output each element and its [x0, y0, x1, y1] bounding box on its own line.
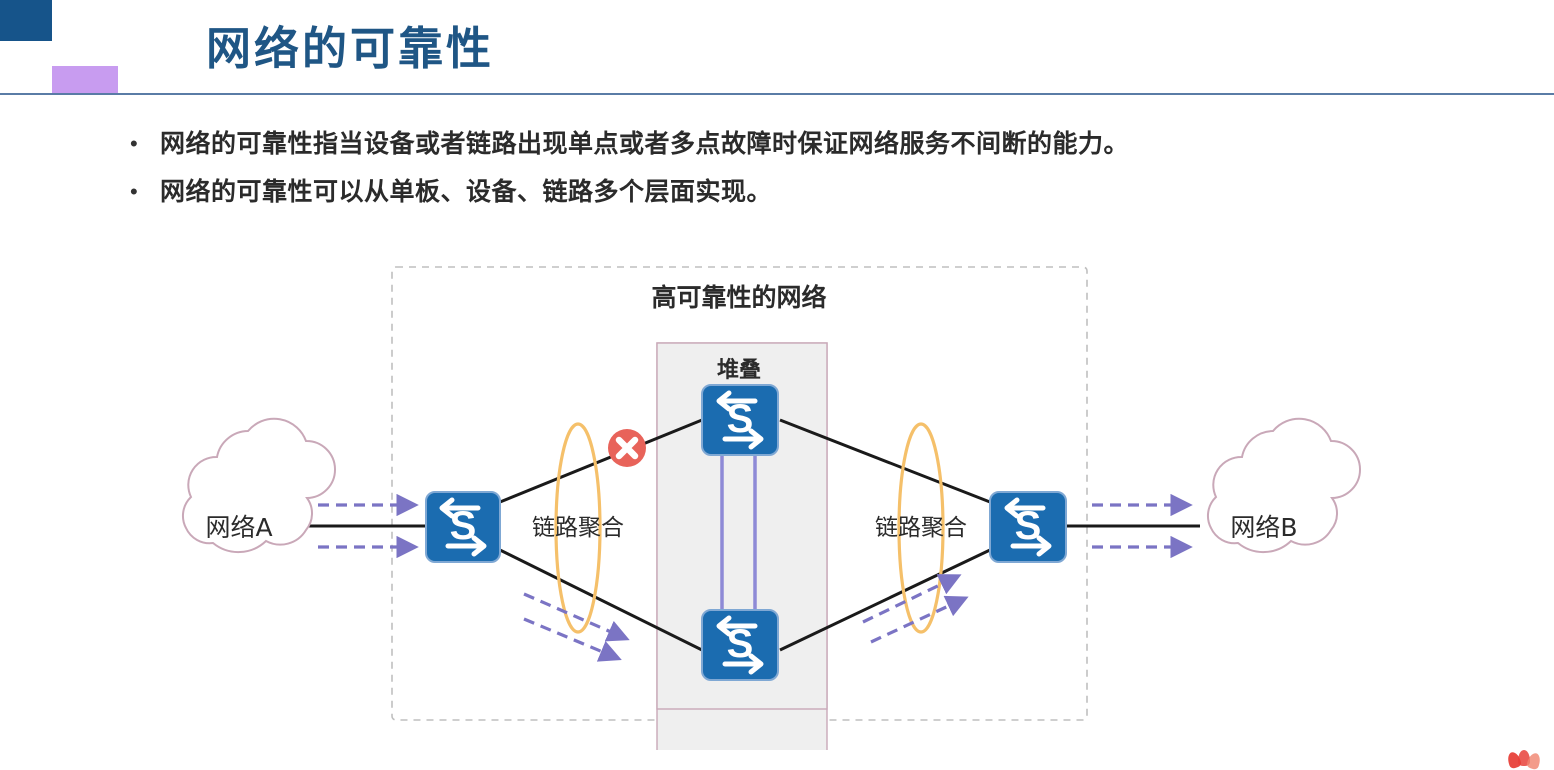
brand-logo-icon	[1508, 750, 1542, 766]
diagram-outer-label: 高可靠性的网络	[651, 283, 826, 312]
cloud-network-a: 网络A	[183, 419, 335, 552]
bullet-item-2: • 网络的可靠性可以从单板、设备、链路多个层面实现。	[130, 175, 1530, 209]
stack-label: 堆叠	[717, 358, 761, 383]
svg-text:S: S	[727, 622, 754, 666]
bullet-text-2: 网络的可靠性可以从单板、设备、链路多个层面实现。	[160, 175, 772, 209]
bullet-marker-icon: •	[130, 175, 160, 209]
header-purple-accent-block	[52, 66, 118, 94]
switch-left-edge[interactable]: S	[426, 492, 500, 562]
svg-text:S: S	[1015, 504, 1042, 548]
switch-stack-top[interactable]: S	[702, 385, 778, 455]
header-divider-rule	[0, 93, 1554, 95]
cloud-network-b-label: 网络B	[1230, 513, 1297, 542]
cloud-network-a-label: 网络A	[205, 513, 272, 542]
link-aggregation-label-left: 链路聚合	[532, 515, 624, 541]
svg-text:S: S	[450, 504, 477, 548]
page-title: 网络的可靠性	[206, 12, 494, 77]
bullet-text-1: 网络的可靠性指当设备或者链路出现单点或者多点故障时保证网络服务不间断的能力。	[160, 127, 1129, 161]
switch-right-edge[interactable]: S	[990, 492, 1066, 562]
link-aggregation-label-right: 链路聚合	[875, 515, 967, 541]
svg-text:S: S	[727, 397, 754, 441]
fault-marker-icon	[608, 429, 646, 467]
flow-arrow-diag-right-1	[871, 602, 957, 642]
switch-stack-bottom[interactable]: S	[702, 610, 778, 680]
bullet-list: • 网络的可靠性指当设备或者链路出现单点或者多点故障时保证网络服务不间断的能力。…	[130, 127, 1530, 223]
slide-header: 网络的可靠性	[0, 0, 1554, 96]
header-blue-accent-block	[0, 0, 52, 41]
bullet-item-1: • 网络的可靠性指当设备或者链路出现单点或者多点故障时保证网络服务不间断的能力。	[130, 127, 1530, 161]
cloud-network-b: 网络B	[1208, 419, 1360, 552]
bullet-marker-icon: •	[130, 127, 160, 161]
network-reliability-diagram: 高可靠性的网络 堆叠 链路聚合 链路聚合 网络A	[0, 250, 1554, 750]
